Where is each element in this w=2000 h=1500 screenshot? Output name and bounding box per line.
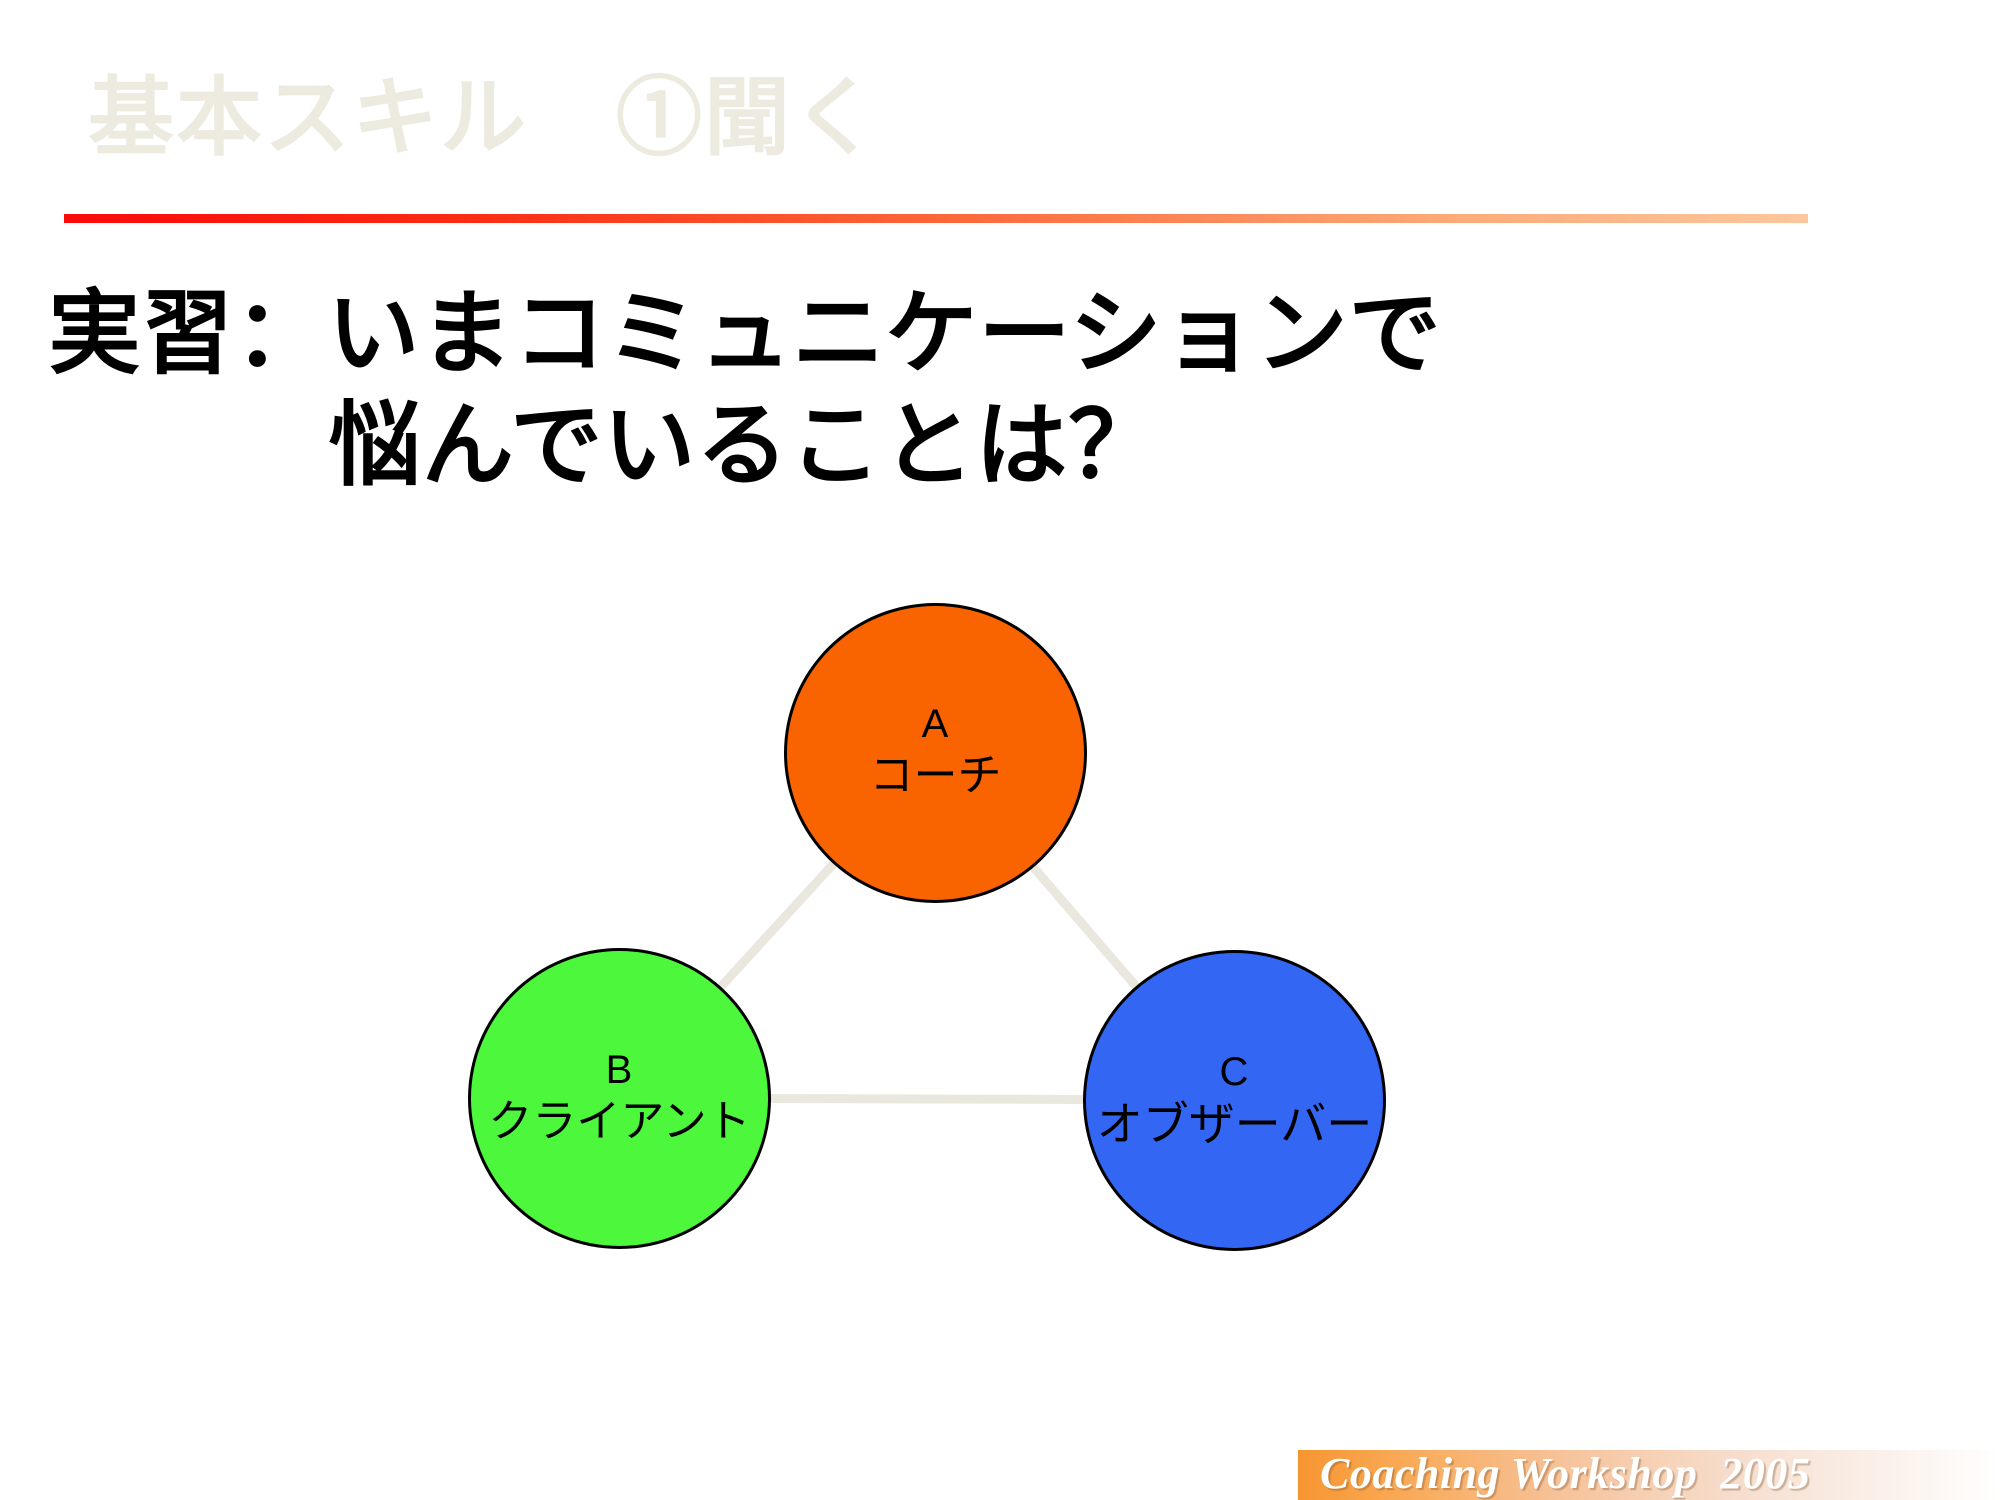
heading-line-2: 悩んでいることは？ — [0, 390, 1490, 502]
node-a-label: コーチ — [870, 747, 1002, 805]
slide-canvas: 基本スキル ①聞く 実習：いまコミュニケーションで 悩んでいることは？ A コー… — [0, 0, 2000, 1500]
slide-title: 基本スキル ①聞く — [88, 58, 1788, 178]
title-underline-rule — [64, 214, 1808, 223]
diagram-node-client[interactable]: B クライアント — [468, 948, 771, 1249]
page-title: 実習：いまコミュニケーションで 悩んでいることは？ — [0, 278, 1490, 502]
diagram-node-observer[interactable]: C オブザーバー — [1083, 950, 1386, 1251]
node-c-letter: C — [1220, 1049, 1250, 1095]
node-b-letter: B — [606, 1047, 634, 1093]
diagram-node-coach[interactable]: A コーチ — [784, 603, 1087, 903]
node-a-letter: A — [922, 701, 950, 747]
node-c-label: オブザーバー — [1097, 1095, 1373, 1153]
role-triangle-diagram: A コーチ B クライアント C オブザーバー — [330, 560, 1490, 1320]
footer-text: Coaching Workshop 2005 — [1320, 1449, 1810, 1499]
node-b-label: クライアント — [488, 1093, 750, 1151]
heading-line-1: 実習：いまコミュニケーションで — [0, 278, 1490, 390]
